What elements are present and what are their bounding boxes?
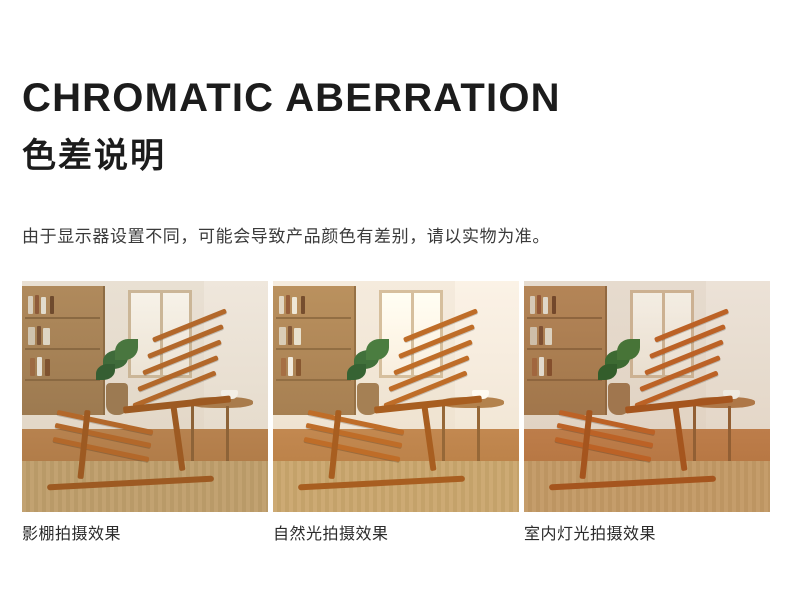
room-scene-illustration [273, 281, 519, 512]
photo-caption: 室内灯光拍摄效果 [524, 524, 770, 546]
gallery-item: 影棚拍摄效果 [22, 281, 268, 546]
page-title-english: CHROMATIC ABERRATION [22, 74, 561, 122]
product-photo-studio [22, 281, 268, 512]
product-photo-indoor-light [524, 281, 770, 512]
page-title-chinese: 色差说明 [22, 134, 166, 178]
rocking-chair [524, 281, 770, 512]
gallery-item: 室内灯光拍摄效果 [524, 281, 770, 546]
photo-gallery: 影棚拍摄效果 [22, 281, 770, 546]
gallery-item: 自然光拍摄效果 [273, 281, 519, 546]
color-difference-page: CHROMATIC ABERRATION 色差说明 由于显示器设置不同，可能会导… [0, 0, 790, 589]
product-photo-natural-light [273, 281, 519, 512]
rocking-chair [273, 281, 519, 512]
room-scene-illustration [524, 281, 770, 512]
photo-caption: 自然光拍摄效果 [273, 524, 519, 546]
photo-caption: 影棚拍摄效果 [22, 524, 268, 546]
disclaimer-text: 由于显示器设置不同，可能会导致产品颜色有差别，请以实物为准。 [22, 224, 550, 250]
room-scene-illustration [22, 281, 268, 512]
rocking-chair [22, 281, 268, 512]
